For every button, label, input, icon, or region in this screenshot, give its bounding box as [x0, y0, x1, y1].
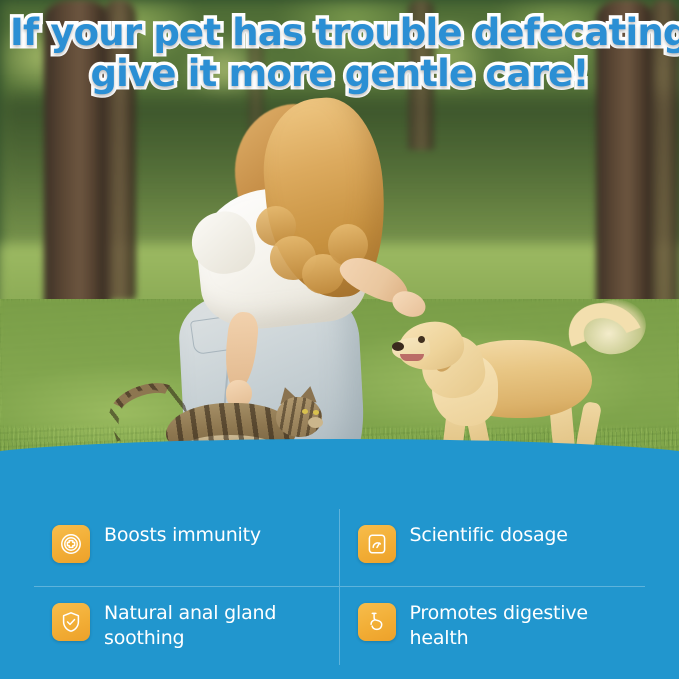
cat-muzzle: [308, 417, 323, 428]
dog-nose: [392, 342, 404, 351]
feature-item-natural-anal-gland-soothing: Natural anal gland soothing: [34, 587, 340, 665]
headline: If your pet has trouble defecating, give…: [0, 12, 679, 94]
shield-check-icon: [52, 603, 90, 641]
panel-curved-top-edge: [0, 439, 679, 519]
feature-panel: Boosts immunity Scientific dosage: [0, 479, 679, 679]
shield-cross-icon: [52, 525, 90, 563]
feature-label: Natural anal gland soothing: [104, 601, 319, 651]
feature-label: Promotes digestive health: [410, 601, 625, 651]
headline-line-1: If your pet has trouble defecating,: [10, 12, 669, 53]
feature-item-scientific-dosage: Scientific dosage: [340, 509, 646, 587]
cat-eye: [313, 410, 319, 415]
feature-grid: Boosts immunity Scientific dosage: [0, 509, 679, 665]
feature-label: Scientific dosage: [410, 523, 568, 548]
feature-label: Boosts immunity: [104, 523, 261, 548]
cat-eye: [302, 409, 308, 414]
product-banner: If your pet has trouble defecating, give…: [0, 0, 679, 679]
stomach-icon: [358, 603, 396, 641]
feature-item-boosts-immunity: Boosts immunity: [34, 509, 340, 587]
dog-eye: [418, 336, 425, 343]
feature-item-promotes-digestive-health: Promotes digestive health: [340, 587, 646, 665]
gauge-dose-icon: [358, 525, 396, 563]
dog-mouth: [400, 354, 424, 361]
woman-figure: [170, 96, 415, 426]
headline-line-2: give it more gentle care!: [10, 53, 669, 94]
